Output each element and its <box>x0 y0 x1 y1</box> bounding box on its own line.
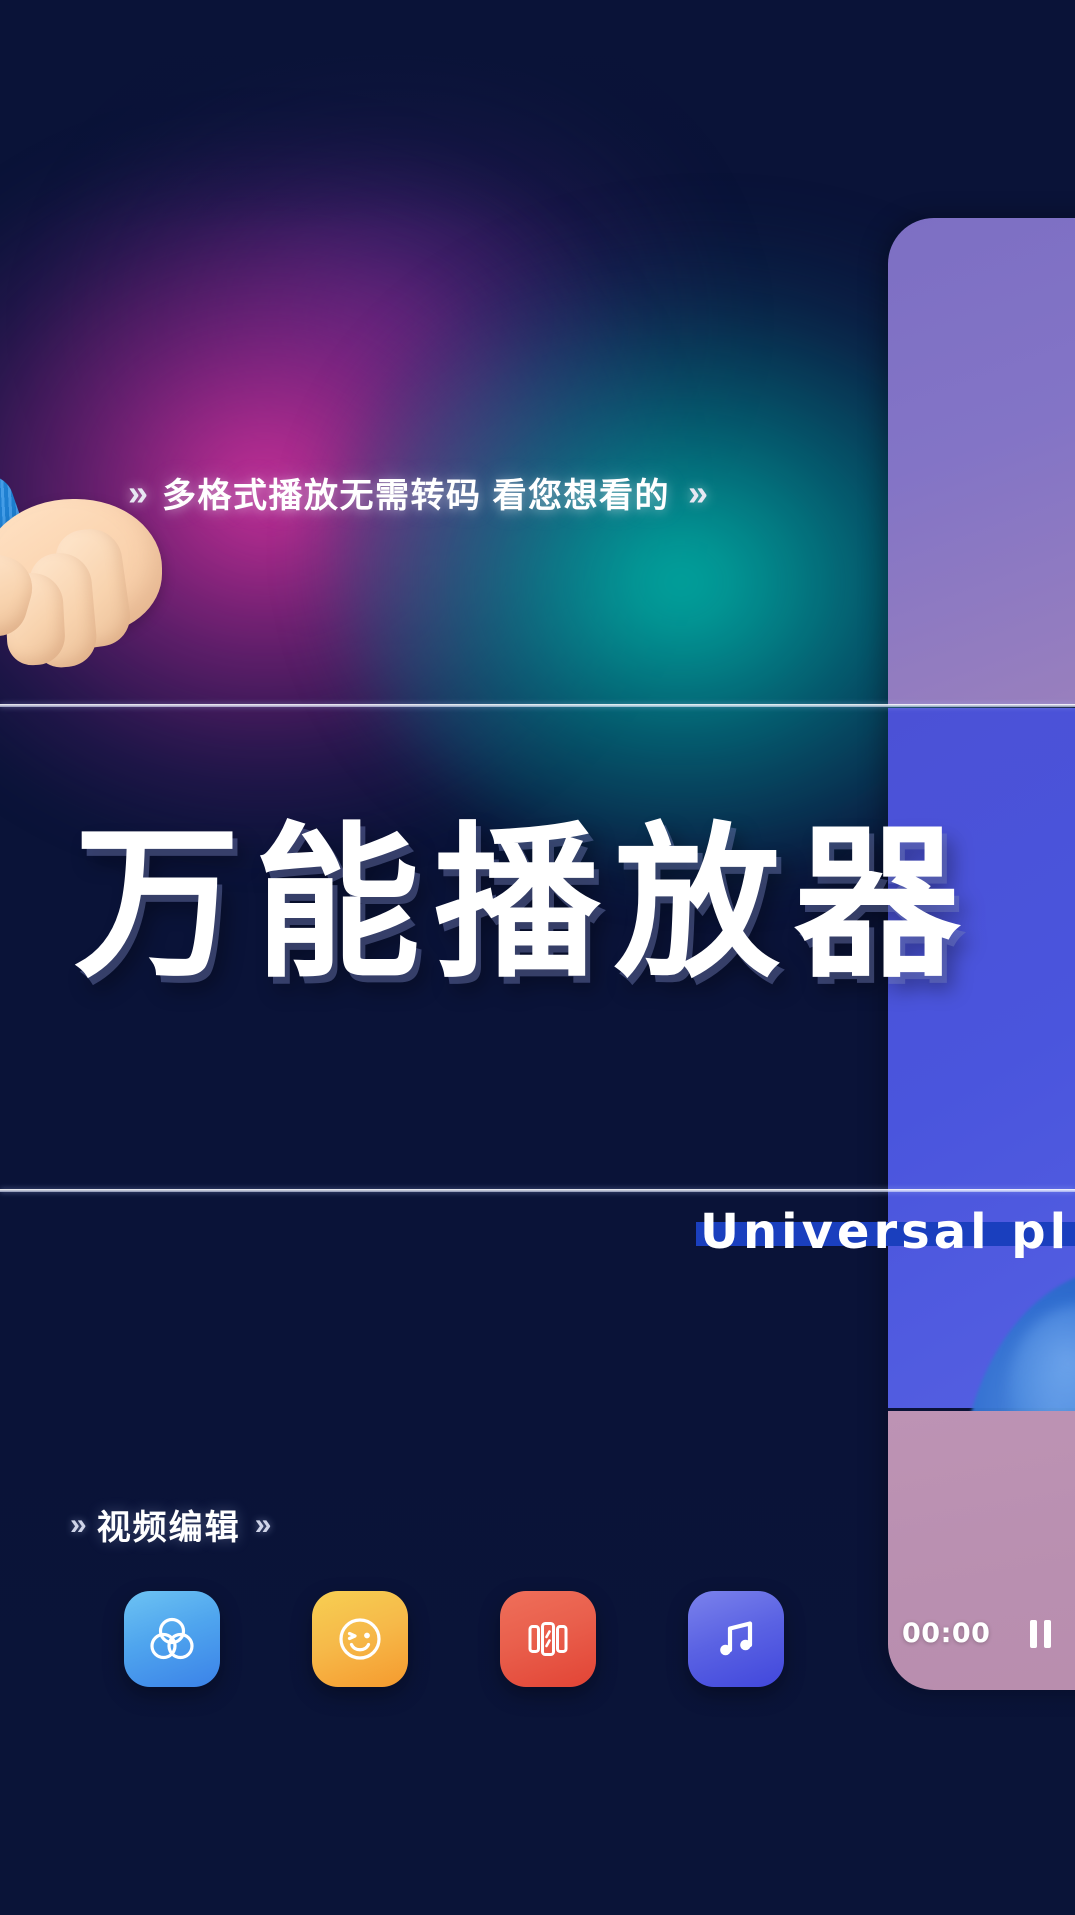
playback-time: 00:00 <box>902 1618 990 1649</box>
player-controls: 00:00 <box>902 1618 1051 1649</box>
split-tool-button[interactable] <box>500 1591 596 1687</box>
poster-canvas: » 多格式播放无需转码 看您想看的 » 万能播放器 Universal pl »… <box>0 0 1075 1915</box>
english-subtitle-text: Universal pl <box>700 1204 1070 1260</box>
sticker-icon <box>333 1612 387 1666</box>
tagline: » 多格式播放无需转码 看您想看的 » <box>128 468 704 517</box>
panel-segment-purple <box>888 218 1075 705</box>
divider-line-bottom <box>0 1189 1075 1192</box>
filter-tool-button[interactable] <box>124 1591 220 1687</box>
pointing-hand-3d-icon <box>0 495 206 685</box>
split-icon <box>521 1612 575 1666</box>
chevron-right-double-icon: » <box>255 1510 268 1540</box>
filter-icon <box>145 1612 199 1666</box>
chevron-right-double-icon: » <box>70 1510 83 1540</box>
pause-icon[interactable] <box>1030 1620 1051 1648</box>
pause-bar-right <box>1044 1620 1051 1648</box>
english-subtitle: Universal pl <box>700 1200 1070 1264</box>
sticker-tool-button[interactable] <box>312 1591 408 1687</box>
pause-bar-left <box>1030 1620 1037 1648</box>
tagline-text: 多格式播放无需转码 看您想看的 <box>162 468 670 517</box>
edit-tools-row <box>124 1591 784 1687</box>
video-edit-section-label: » 视频编辑 » <box>70 1500 267 1549</box>
music-tool-button[interactable] <box>688 1591 784 1687</box>
page-title: 万能播放器 <box>74 822 974 988</box>
section-label-text: 视频编辑 <box>97 1500 241 1549</box>
divider-line-top <box>0 704 1075 707</box>
background-vignette-top <box>0 0 1075 230</box>
chevron-right-double-icon: » <box>688 475 704 511</box>
music-note-icon <box>709 1612 763 1666</box>
chevron-right-double-icon: » <box>128 475 144 511</box>
